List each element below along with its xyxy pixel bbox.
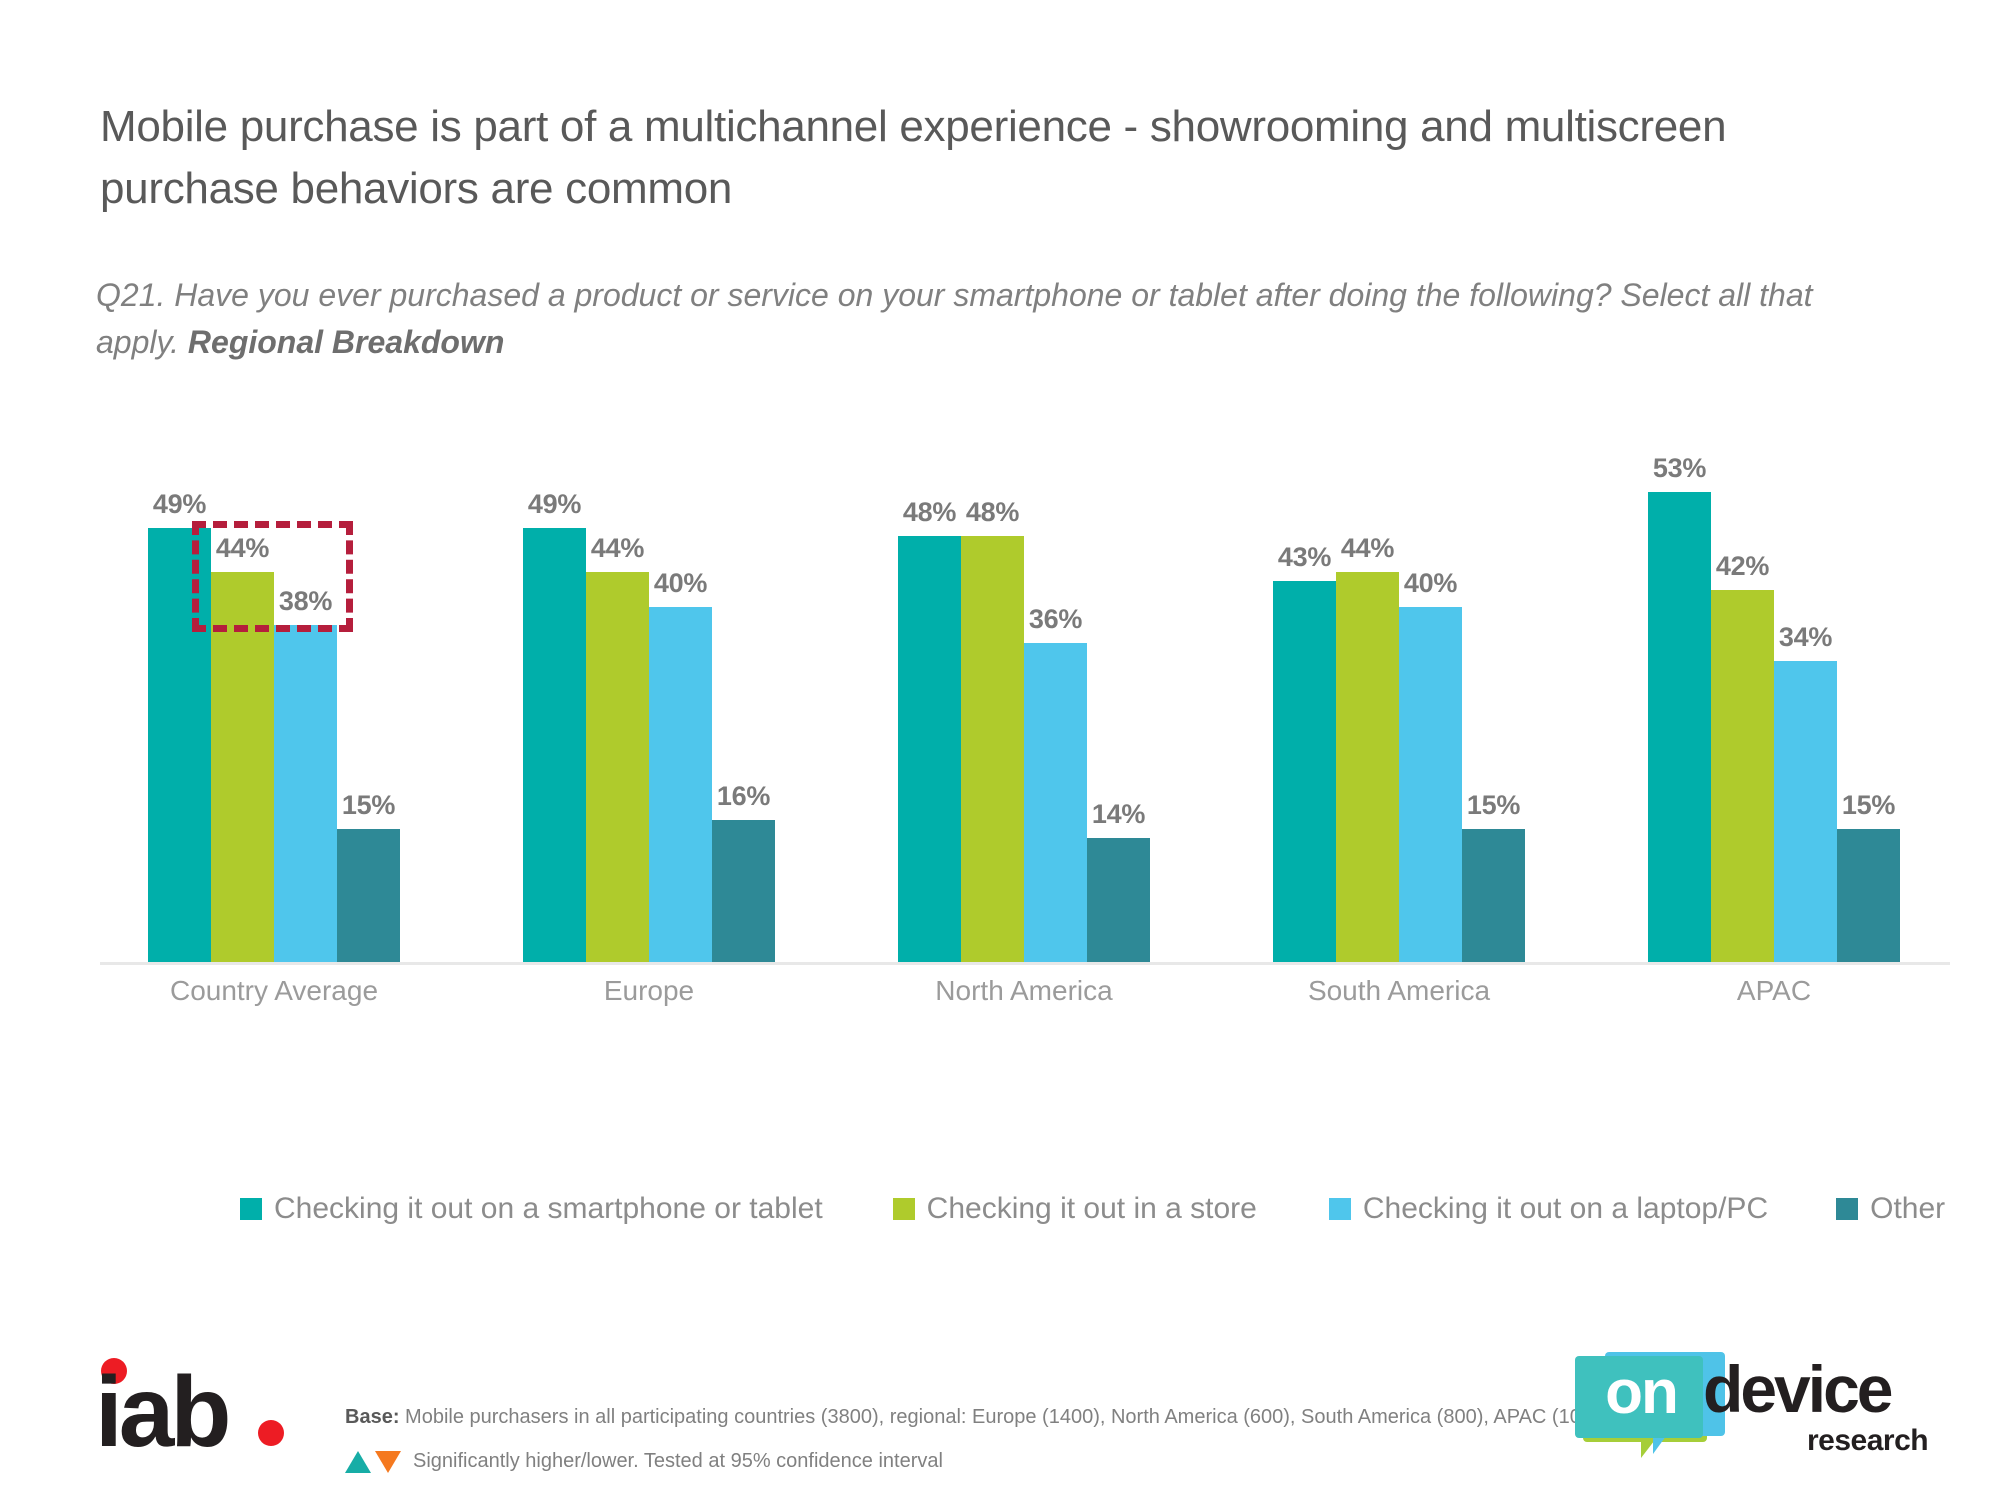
bar-chart: 49%44%38%15%Country Average49%44%40%16%E… <box>100 430 1950 965</box>
base-note: Base: Mobile purchasers in all participa… <box>345 1406 1610 1429</box>
bar-value-label: 44% <box>1341 533 1394 564</box>
category-label: North America <box>898 975 1150 1007</box>
bar[interactable]: 16% <box>712 820 775 962</box>
bar-value-label: 15% <box>342 790 395 821</box>
bar[interactable]: 49% <box>148 528 211 962</box>
legend-item[interactable]: Checking it out on a smartphone or table… <box>240 1192 823 1226</box>
bar[interactable]: 40% <box>1399 607 1462 962</box>
triangle-up-icon <box>345 1451 371 1473</box>
bar-group-bars: 43%44%40%15% <box>1273 430 1525 962</box>
legend-swatch-icon <box>1329 1198 1351 1220</box>
bar-value-label: 40% <box>1404 568 1457 599</box>
base-note-label: Base: <box>345 1406 399 1428</box>
bar-group-bars: 48%48%36%14% <box>898 430 1150 962</box>
bar[interactable]: 43% <box>1273 581 1336 962</box>
legend-item[interactable]: Other <box>1836 1192 1945 1226</box>
bar[interactable]: 44% <box>1336 572 1399 962</box>
ondevice-device-text: device <box>1703 1356 1890 1422</box>
iab-period-icon <box>258 1420 284 1446</box>
base-note-text: Mobile purchasers in all participating c… <box>399 1406 1609 1428</box>
bar[interactable]: 48% <box>898 536 961 962</box>
bar-value-label: 49% <box>528 489 581 520</box>
bar[interactable]: 44% <box>211 572 274 962</box>
bar[interactable]: 34% <box>1774 661 1837 962</box>
bar-group-bars: 53%42%34%15% <box>1648 430 1900 962</box>
legend-swatch-icon <box>893 1198 915 1220</box>
bar[interactable]: 36% <box>1024 643 1087 962</box>
legend-swatch-icon <box>1836 1198 1858 1220</box>
chart-legend: Checking it out on a smartphone or table… <box>240 1192 1940 1226</box>
bar-value-label: 36% <box>1029 604 1082 635</box>
subtitle-emphasis: Regional Breakdown <box>188 324 505 360</box>
significance-note-text: Significantly higher/lower. Tested at 95… <box>413 1450 943 1473</box>
page-subtitle: Q21. Have you ever purchased a product o… <box>96 272 1856 366</box>
bar-group: 49%44%38%15%Country Average <box>148 430 400 962</box>
iab-logo: iab <box>95 1340 285 1460</box>
ondevice-research-logo: on device research <box>1575 1348 1935 1478</box>
bar-value-label: 53% <box>1653 453 1706 484</box>
ondevice-on-text: on <box>1581 1362 1701 1424</box>
category-label: APAC <box>1648 975 1900 1007</box>
category-axis-line <box>100 962 1950 965</box>
bar-value-label: 15% <box>1842 790 1895 821</box>
bar-group: 48%48%36%14%North America <box>898 430 1150 962</box>
legend-label: Checking it out on a laptop/PC <box>1363 1192 1768 1226</box>
bar-value-label: 16% <box>717 781 770 812</box>
bar-value-label: 34% <box>1779 622 1832 653</box>
bar-group-bars: 49%44%40%16% <box>523 430 775 962</box>
category-label: Europe <box>523 975 775 1007</box>
legend-label: Checking it out on a smartphone or table… <box>274 1192 823 1226</box>
iab-wordmark: iab <box>95 1362 227 1462</box>
bar[interactable]: 49% <box>523 528 586 962</box>
significance-note: Significantly higher/lower. Tested at 95… <box>345 1450 943 1473</box>
legend-label: Other <box>1870 1192 1945 1226</box>
bar-value-label: 14% <box>1092 799 1145 830</box>
category-label: Country Average <box>148 975 400 1007</box>
bar[interactable]: 42% <box>1711 590 1774 962</box>
page-title: Mobile purchase is part of a multichanne… <box>100 96 1800 221</box>
bar-value-label: 49% <box>153 489 206 520</box>
bar-group: 53%42%34%15%APAC <box>1648 430 1900 962</box>
bar-group-bars: 49%44%38%15% <box>148 430 400 962</box>
bar[interactable]: 53% <box>1648 492 1711 962</box>
ondevice-research-text: research <box>1807 1426 1928 1456</box>
bar[interactable]: 14% <box>1087 838 1150 962</box>
legend-item[interactable]: Checking it out on a laptop/PC <box>1329 1192 1768 1226</box>
bar-value-label: 48% <box>966 497 1019 528</box>
bar[interactable]: 38% <box>274 625 337 962</box>
bar[interactable]: 48% <box>961 536 1024 962</box>
bar-value-label: 43% <box>1278 542 1331 573</box>
bar-value-label: 38% <box>279 586 332 617</box>
bar-value-label: 40% <box>654 568 707 599</box>
category-label: South America <box>1273 975 1525 1007</box>
legend-swatch-icon <box>240 1198 262 1220</box>
bar[interactable]: 15% <box>1837 829 1900 962</box>
bar-group: 49%44%40%16%Europe <box>523 430 775 962</box>
legend-item[interactable]: Checking it out in a store <box>893 1192 1257 1226</box>
triangle-down-icon <box>375 1451 401 1473</box>
bar-value-label: 44% <box>216 533 269 564</box>
bar-value-label: 42% <box>1716 551 1769 582</box>
bar[interactable]: 44% <box>586 572 649 962</box>
bar[interactable]: 15% <box>337 829 400 962</box>
bar-value-label: 44% <box>591 533 644 564</box>
bar-value-label: 48% <box>903 497 956 528</box>
bar-value-label: 15% <box>1467 790 1520 821</box>
bar[interactable]: 40% <box>649 607 712 962</box>
bar[interactable]: 15% <box>1462 829 1525 962</box>
legend-label: Checking it out in a store <box>927 1192 1257 1226</box>
bar-group: 43%44%40%15%South America <box>1273 430 1525 962</box>
